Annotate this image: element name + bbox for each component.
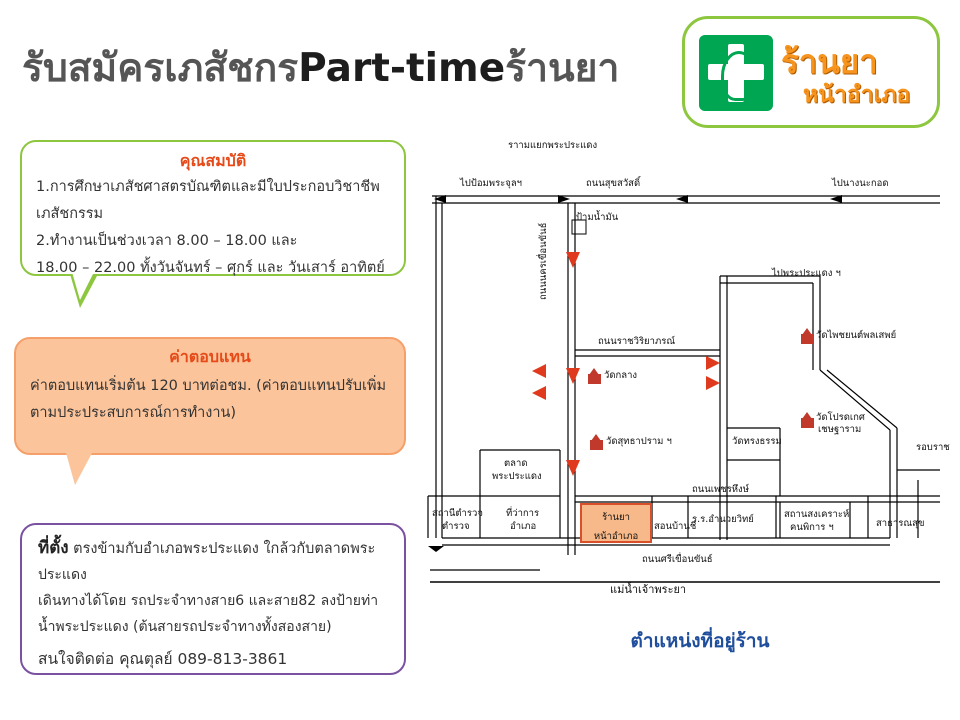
map-label-23: สอนบ้านชี	[654, 521, 696, 532]
qualifications-line-1: 1.การศึกษาเภสัชศาสตรบัณฑิตและมีใบประกอบว…	[36, 174, 390, 201]
logo-line-2: หน้าอำเภอ	[803, 77, 910, 113]
map-label-7: ไปพระประแดง ฯ	[772, 268, 841, 279]
location-box: ที่ตั้ง ตรงข้ามกับอำเภอพระประแดง ใกล้วกั…	[20, 523, 406, 675]
map-label-0: ราามแยกพระประแดง	[508, 140, 597, 151]
shop-marker[interactable]: ร้านยา หน้าอำเภอ	[580, 503, 652, 543]
title-english: Part-time	[298, 46, 505, 91]
map-label-25: คนพิการ ฯ	[790, 522, 834, 533]
map-label-22: ตำรวจ	[442, 521, 470, 532]
map-label-19: อำเภอ	[510, 521, 536, 532]
map-label-9: วัดกลาง	[604, 370, 637, 381]
location-line-2: ประแดง	[38, 562, 388, 588]
location-map: ร้านยา หน้าอำเภอ ราามแยกพระประแดง ไปป้อม…	[420, 140, 952, 670]
payment-line-2: ตามประประสบการณ์การทำงาน)	[30, 400, 390, 427]
map-label-11: เชษฐาราม	[818, 424, 861, 435]
location-line-1-rest: ตรงข้ามกับอำเภอพระประแดง ใกล้วกับตลาดพระ	[69, 541, 376, 557]
snake-icon	[721, 51, 757, 101]
qualifications-line-3: 2.ทำงานเป็นช่วงเวลา 8.00 – 18.00 และ	[36, 228, 390, 255]
payment-box: ค่าตอบแทน ค่าตอบแทนเริ่มต้น 120 บาทต่อชม…	[14, 337, 406, 455]
map-label-21: สถานีตำรวจ	[432, 508, 483, 519]
map-label-14: รอบราช	[916, 442, 950, 453]
temple-icon-wat-sutthapram	[590, 434, 603, 450]
map-label-6: ถนนราชวิริยาภรณ์	[598, 336, 675, 347]
map-label-3: ไปนางนะกอด	[832, 178, 889, 189]
qualifications-box: คุณสมบัติ 1.การศึกษาเภสัชศาสตรบัณฑิตและม…	[20, 140, 406, 276]
page-title: รับสมัครเภสัชกรPart-timeร้านยา	[22, 40, 672, 100]
map-label-28: แม่น้ำเจ้าพระยา	[610, 584, 686, 595]
map-label-8: วัดไพชยนต์พลเสพย์	[816, 330, 896, 341]
title-thai-1: รับสมัครเภสัชกร	[22, 46, 298, 91]
map-label-12: วัดสุทธาปราม ฯ	[606, 436, 672, 447]
shop-marker-line-1: ร้านยา	[582, 511, 650, 524]
map-label-15: ตลาด	[504, 458, 528, 469]
pharmacy-logo: ร้านยา หน้าอำเภอ	[682, 16, 940, 128]
map-label-5: ถนนนครเขื่อนขันธ์	[538, 223, 549, 300]
temple-icon-wat-prot-ket	[801, 412, 814, 428]
payment-callout-tail	[66, 453, 92, 485]
location-line-4: น้ำพระประแดง (ต้นสายรถประจำทางทั้งสองสาย…	[38, 614, 388, 640]
payment-line-1: ค่าตอบแทนเริ่มต้น 120 บาทต่อชม. (ค่าตอบแ…	[30, 373, 390, 400]
map-caption: ตำแหน่งที่อยู่ร้าน	[560, 626, 840, 656]
map-label-1: ไปป้อมพระจุลฯ	[460, 178, 522, 189]
map-label-27: ถนนศรีเขื่อนขันธ์	[642, 554, 713, 565]
map-label-2: ถนนสุขสวัสดิ์	[586, 178, 640, 189]
location-label: ที่ตั้ง	[38, 538, 69, 558]
map-label-20: ร.ร.อำนวยวิทย์	[692, 514, 754, 525]
pharmacy-cross-icon	[699, 35, 773, 111]
map-label-10: วัดโปรดเกศ	[816, 412, 865, 423]
qualifications-heading: คุณสมบัติ	[36, 150, 390, 172]
location-line-1: ที่ตั้ง ตรงข้ามกับอำเภอพระประแดง ใกล้วกั…	[38, 535, 388, 562]
map-label-13: วัดทรงธรรม	[732, 436, 782, 447]
map-roads-svg	[420, 140, 952, 640]
temple-icon-wat-klang	[588, 368, 601, 384]
map-label-4: ป้ามน้ำมัน	[576, 212, 618, 223]
temple-icon-wat-phaichayon	[801, 328, 814, 344]
map-label-17: ถนนเพชรหึงษ์	[692, 484, 749, 495]
map-label-24: สถานสงเคราะห์	[784, 509, 849, 520]
qualifications-line-2: เภสัชกรรม	[36, 201, 390, 228]
shop-marker-line-2: หน้าอำเภอ	[582, 530, 650, 543]
contact-line: สนใจติดต่อ คุณตุลย์ 089-813-3861	[38, 644, 388, 674]
map-label-16: พระประแดง	[492, 471, 542, 482]
poster-page: รับสมัครเภสัชกรPart-timeร้านยา ร้านยา หน…	[0, 0, 960, 720]
payment-heading: ค่าตอบแทน	[30, 345, 390, 369]
location-line-3: เดินทางได้โดย รถประจำทางสาย6 และสาย82 ลง…	[38, 588, 388, 614]
map-label-18: ที่ว่าการ	[506, 508, 539, 519]
title-thai-2: ร้านยา	[505, 46, 619, 91]
map-label-26: สาธารณสุข	[876, 518, 924, 529]
qualifications-callout-tail-inner	[72, 272, 94, 300]
